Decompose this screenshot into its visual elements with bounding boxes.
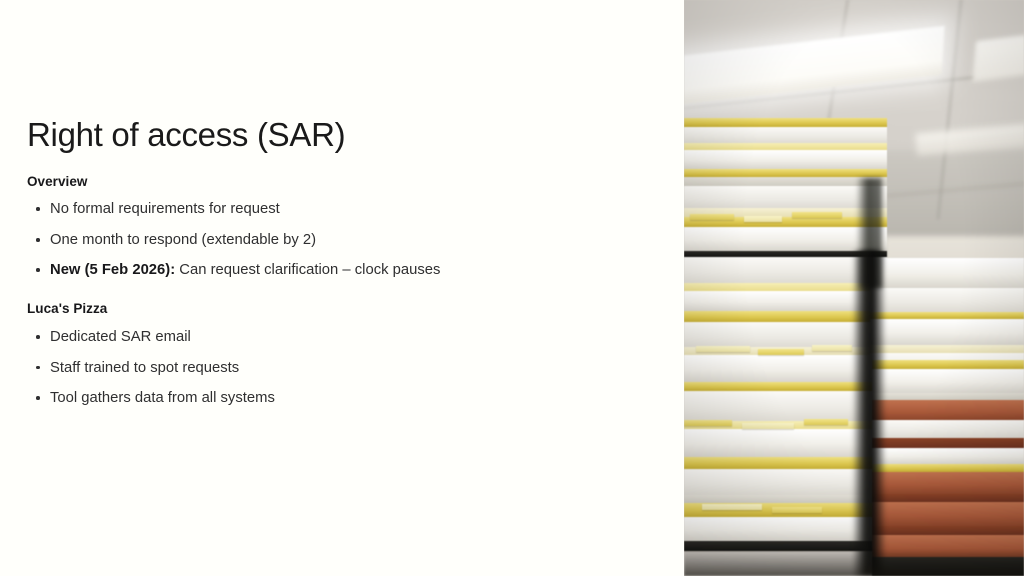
sticky-note <box>742 423 794 429</box>
sticky-note <box>804 419 848 425</box>
bullet-dot-icon <box>36 396 40 400</box>
sticky-tab-layer <box>684 118 887 127</box>
sticky-tab-layer <box>684 143 887 150</box>
list-item: No formal requirements for request <box>27 199 457 220</box>
photo-stage <box>684 0 1024 576</box>
photo-bottom-shadow <box>684 550 1024 576</box>
sticky-note <box>758 349 804 355</box>
red-folder-edge <box>872 494 1024 502</box>
section-heading-overview: Overview <box>27 173 457 191</box>
list-item: Staff trained to spot requests <box>27 358 457 379</box>
content-block: Right of access (SAR) Overview No formal… <box>27 116 457 409</box>
bullet-text: Dedicated SAR email <box>50 329 191 345</box>
bullet-list-overview: No formal requirements for request One m… <box>27 199 457 281</box>
red-folder-edge <box>872 438 1024 448</box>
sticky-note <box>684 420 732 426</box>
paper-layer <box>872 420 1024 438</box>
sticky-tab-layer <box>684 169 887 177</box>
sticky-tab-layer <box>872 464 1024 472</box>
bullet-text: Can request clarification – clock pauses <box>175 262 440 278</box>
list-item: New (5 Feb 2026): Can request clarificat… <box>27 260 457 281</box>
bullet-dot-icon <box>36 335 40 339</box>
sticky-note <box>744 216 782 222</box>
list-item: Tool gathers data from all systems <box>27 388 457 409</box>
stack-gap-shadow <box>852 250 886 576</box>
paper-layer <box>872 393 1024 400</box>
list-item: One month to respond (extendable by 2) <box>27 230 457 251</box>
paper-layer <box>872 369 1024 393</box>
bullet-dot-icon <box>36 238 40 242</box>
red-folder-edge <box>872 472 1024 494</box>
bullet-text: Tool gathers data from all systems <box>50 390 275 406</box>
sticky-note <box>772 507 822 513</box>
red-folder-edge <box>872 400 1024 420</box>
sticky-note <box>696 346 750 352</box>
bullet-text: No formal requirements for request <box>50 201 280 217</box>
red-folder-edge <box>872 502 1024 526</box>
sticky-note <box>812 345 852 351</box>
sticky-tab-layer <box>872 360 1024 369</box>
bullet-text: One month to respond (extendable by 2) <box>50 232 316 248</box>
content-pane: Right of access (SAR) Overview No formal… <box>0 0 684 576</box>
sticky-note <box>690 214 734 220</box>
paper-layer <box>684 127 887 143</box>
slide: Right of access (SAR) Overview No formal… <box>0 0 1024 576</box>
document-stacks-photo <box>684 0 1024 576</box>
paper-layer <box>684 150 887 169</box>
bullet-dot-icon <box>36 268 40 272</box>
list-item: Dedicated SAR email <box>27 327 457 348</box>
bullet-text: Staff trained to spot requests <box>50 360 239 376</box>
bullet-list-lucas-pizza: Dedicated SAR email Staff trained to spo… <box>27 327 457 409</box>
section-heading-lucas-pizza: Luca's Pizza <box>27 300 457 318</box>
bullet-dot-icon <box>36 207 40 211</box>
red-folder-edge <box>872 526 1024 535</box>
sticky-note <box>792 212 842 218</box>
sticky-note <box>702 504 762 510</box>
bullet-dot-icon <box>36 366 40 370</box>
bullet-lead: New (5 Feb 2026): <box>50 262 175 278</box>
paper-layer <box>872 448 1024 464</box>
paper-stack-right <box>872 252 1024 576</box>
page-title: Right of access (SAR) <box>27 116 457 155</box>
